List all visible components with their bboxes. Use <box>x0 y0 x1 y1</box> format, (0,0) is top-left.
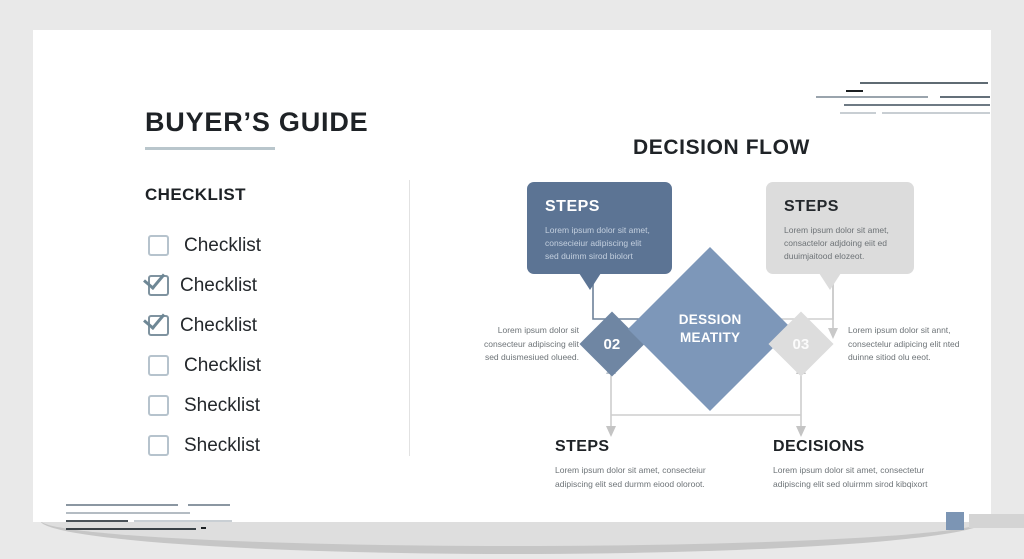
bubble-blue-heading: STEPS <box>545 198 654 216</box>
diamond-main-label-line2: MEATITY <box>680 330 740 345</box>
side-text-left: Lorem ipsum dolor sit consecteur adipisc… <box>471 324 579 365</box>
diamond-main-label: DESSION MEATITY <box>679 311 742 347</box>
slide-stage: BUYER’S GUIDE CHECKLIST ChecklistCheckli… <box>0 0 1024 559</box>
diamond-step-02-number: 02 <box>604 336 621 353</box>
bottom-steps-heading: STEPS <box>555 438 735 456</box>
bottom-decisions-body: Lorem ipsum dolor sit amet, consectetur … <box>773 464 953 491</box>
bottom-decisions-heading: DECISIONS <box>773 438 953 456</box>
bubble-gray-body: Lorem ipsum dolor sit amet, consactelor … <box>784 224 896 264</box>
bubble-steps-blue: STEPS Lorem ipsum dolor sit amet, consec… <box>527 182 672 274</box>
bubble-steps-gray: STEPS Lorem ipsum dolor sit amet, consac… <box>766 182 914 274</box>
bottom-block-steps: STEPS Lorem ipsum dolor sit amet, consec… <box>555 438 735 491</box>
diamond-step-03-number: 03 <box>793 336 810 353</box>
diamond-main-label-line1: DESSION <box>679 312 742 327</box>
side-text-right: Lorem ipsum dolor sit annt, consectelur … <box>848 324 976 365</box>
bubble-gray-heading: STEPS <box>784 198 896 216</box>
bottom-block-decisions: DECISIONS Lorem ipsum dolor sit amet, co… <box>773 438 953 491</box>
presentation-slide: BUYER’S GUIDE CHECKLIST ChecklistCheckli… <box>33 30 991 522</box>
bubble-blue-body: Lorem ipsum dolor sit amet, consecieiur … <box>545 224 654 264</box>
bottom-steps-body: Lorem ipsum dolor sit amet, consecteiur … <box>555 464 735 491</box>
